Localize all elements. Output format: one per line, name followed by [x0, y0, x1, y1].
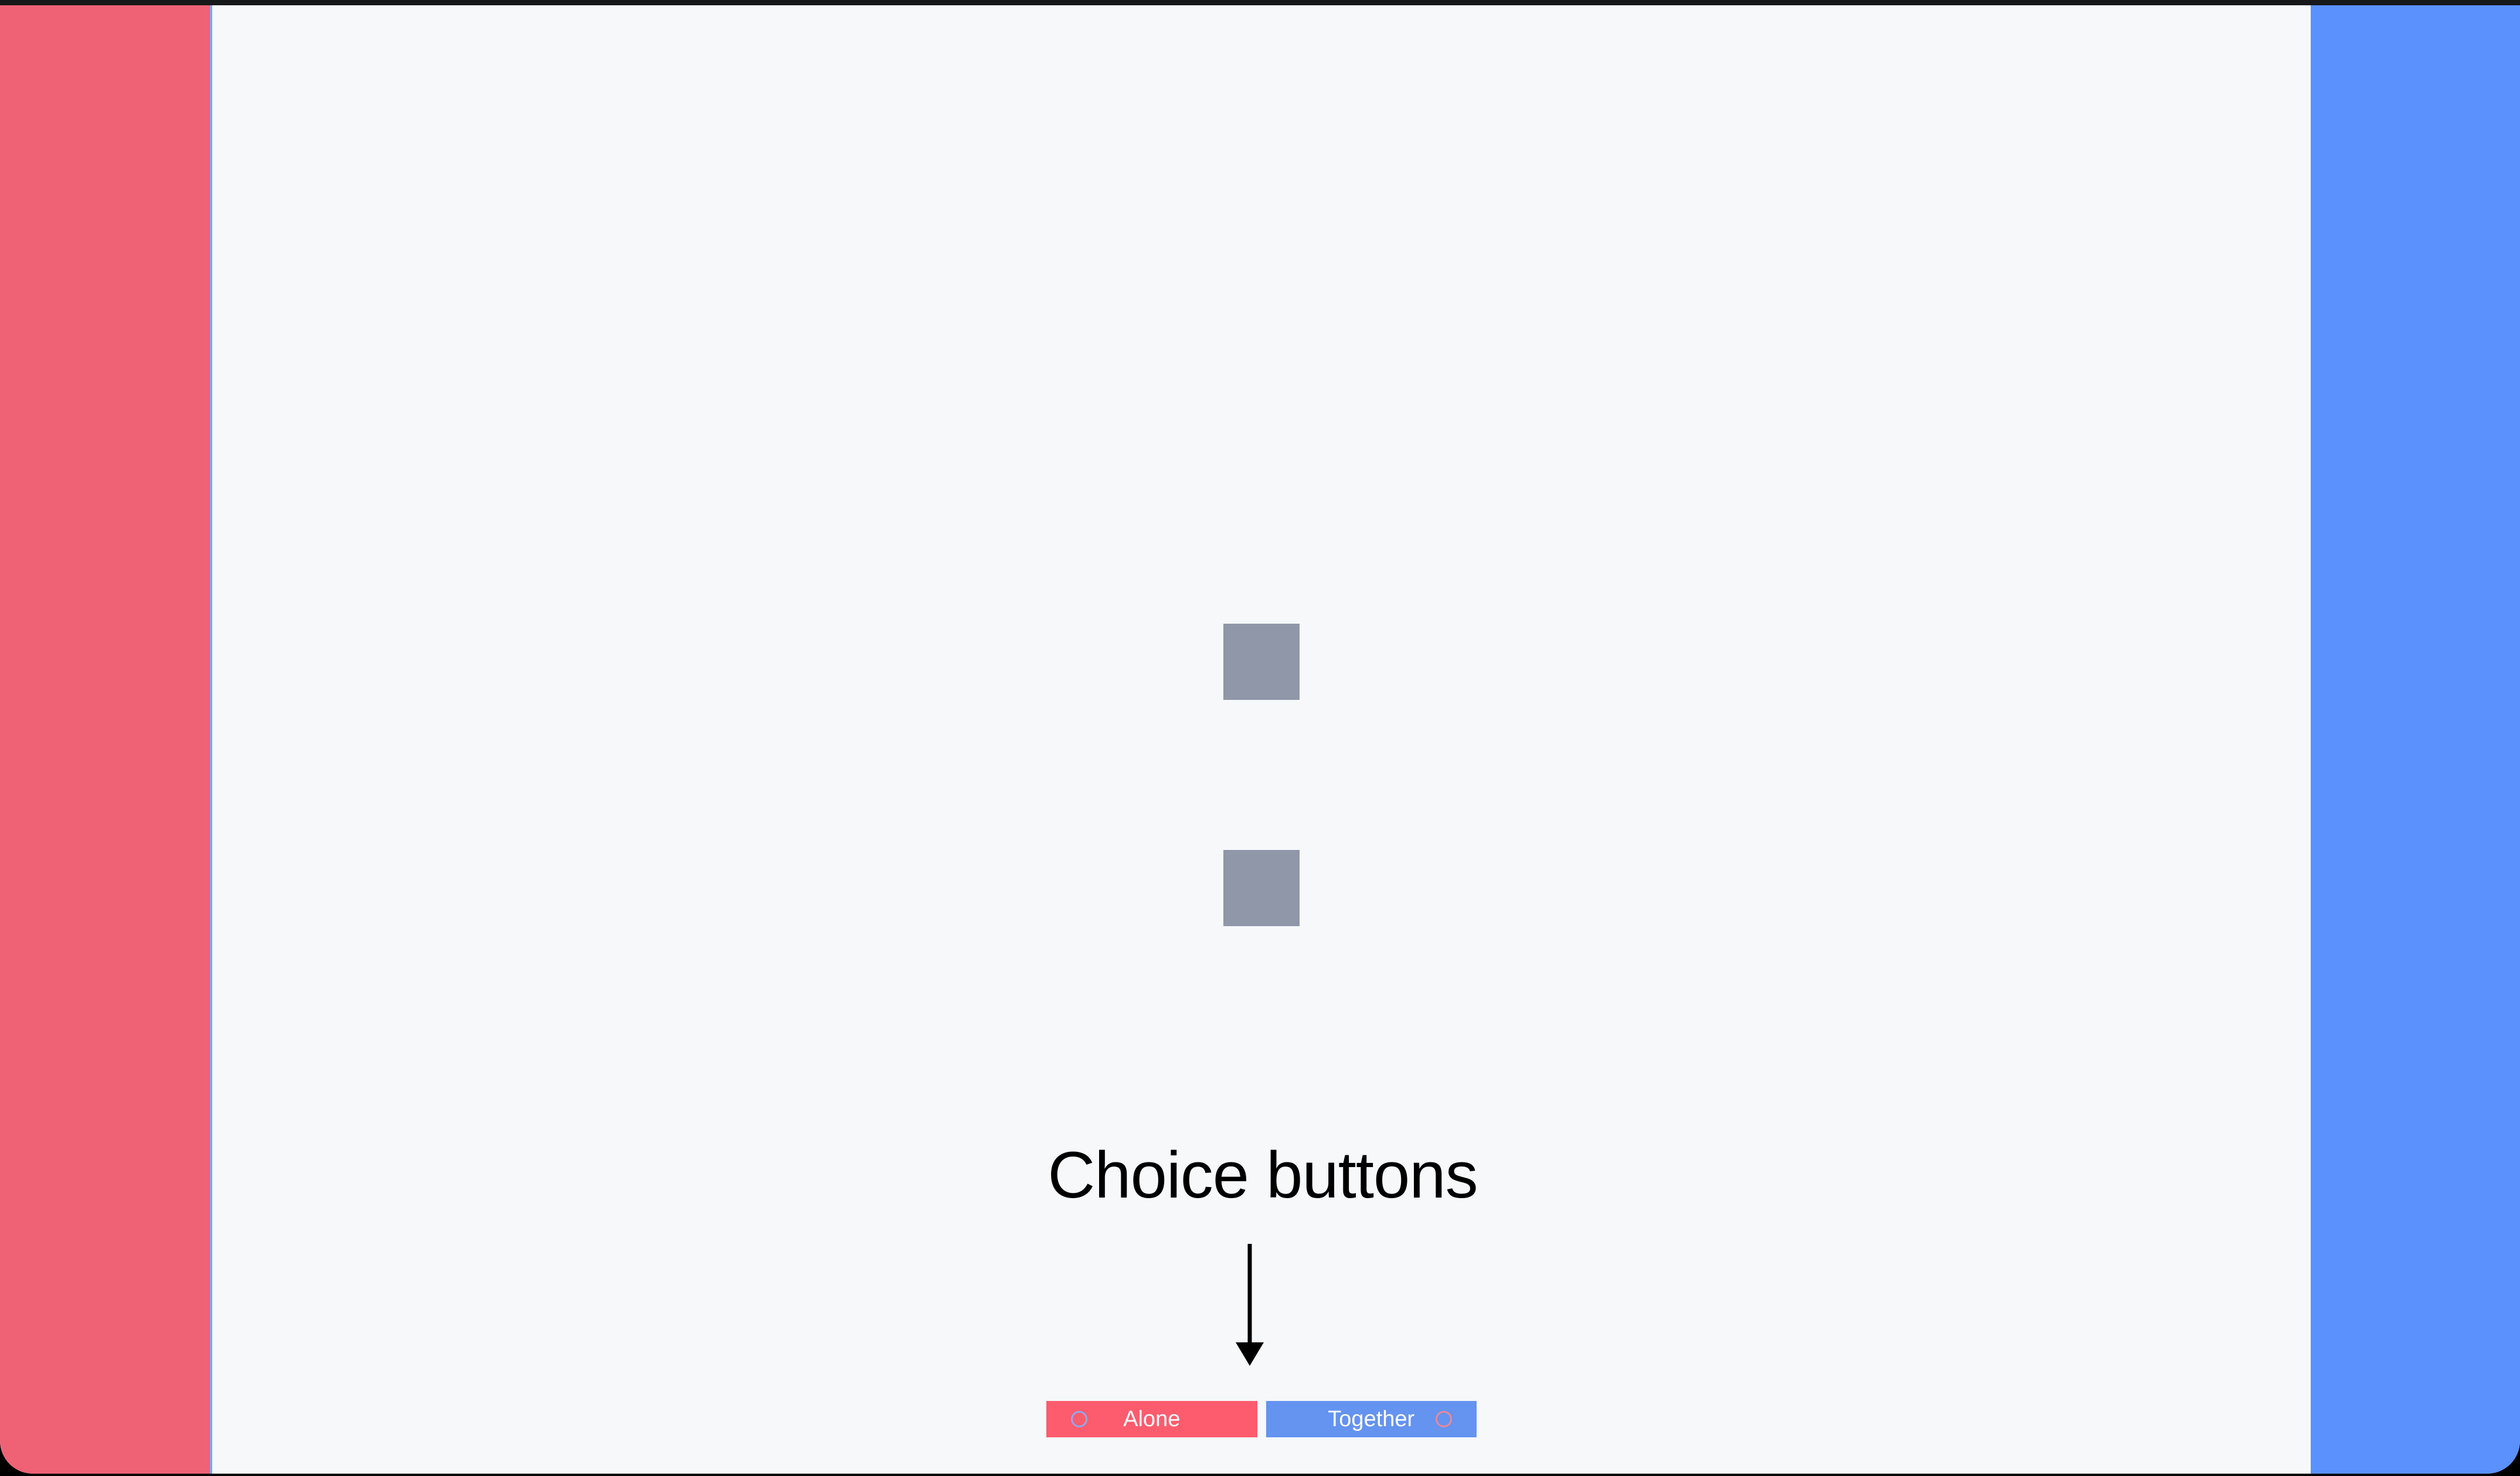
stimulus-square-upper	[1223, 624, 1300, 700]
radio-circle-icon	[1436, 1411, 1452, 1427]
page-surface: Choice buttons Alone Together	[0, 5, 2520, 1474]
radio-circle-icon	[1071, 1411, 1087, 1427]
top-chrome-bar	[0, 0, 2520, 5]
stimulus-square-lower	[1223, 850, 1300, 926]
alone-side-panel[interactable]	[0, 5, 212, 1474]
down-arrow-icon	[1232, 1244, 1267, 1367]
together-side-panel[interactable]	[2311, 5, 2520, 1474]
stimulus-area: Choice buttons Alone Together	[215, 5, 2311, 1474]
choice-button-row: Alone Together	[1046, 1401, 1477, 1437]
choice-button-together[interactable]: Together	[1266, 1401, 1477, 1437]
choice-button-together-label: Together	[1328, 1407, 1414, 1432]
choice-button-alone-label: Alone	[1123, 1407, 1180, 1432]
choice-button-alone[interactable]: Alone	[1046, 1401, 1257, 1437]
annotation-label: Choice buttons	[215, 1142, 2311, 1208]
app-window: Choice buttons Alone Together	[0, 0, 2520, 1476]
